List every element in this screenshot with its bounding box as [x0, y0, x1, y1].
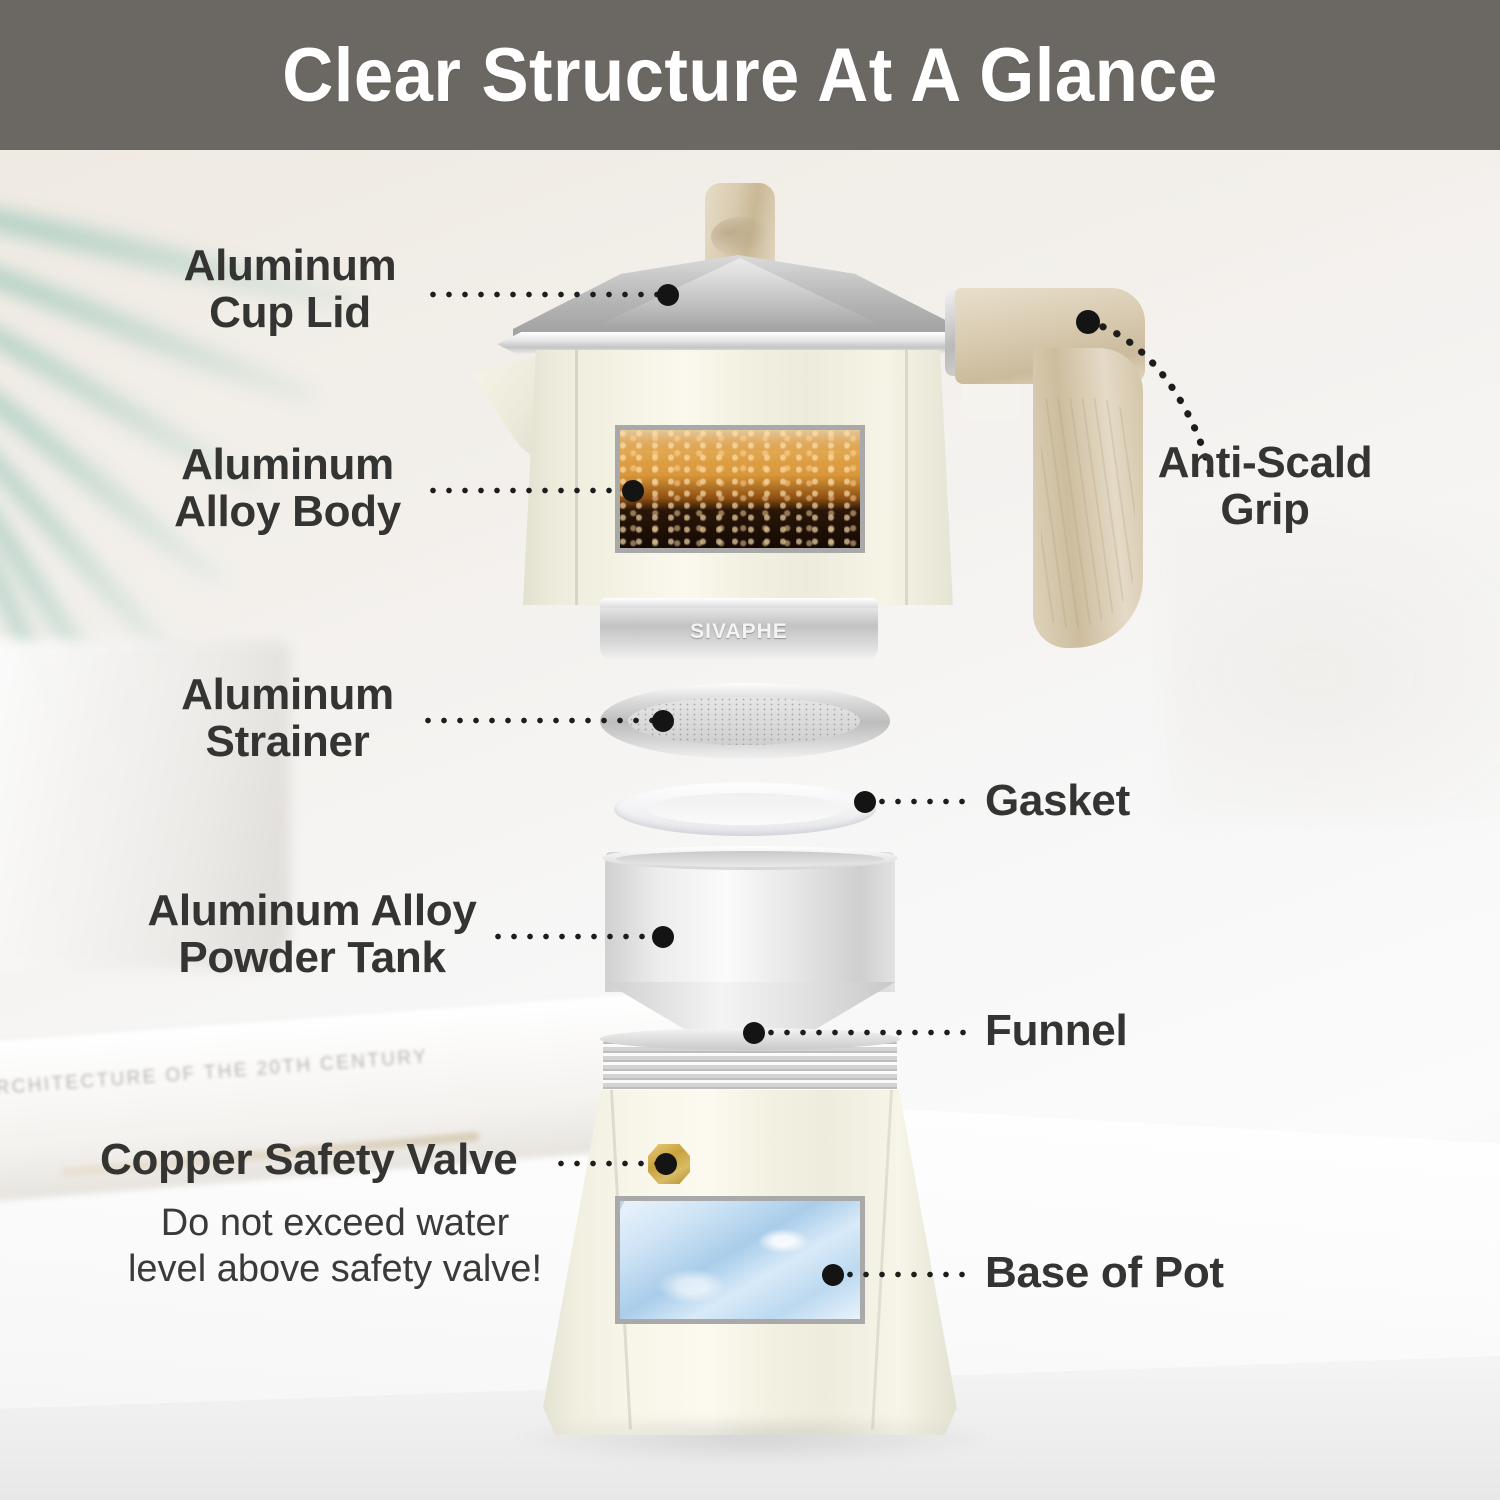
leader-endpoint-dot	[655, 1153, 677, 1175]
water-inset-image	[615, 1196, 865, 1324]
leader-endpoint-dot	[854, 791, 876, 813]
leader-dots	[826, 1271, 966, 1278]
leader-line-base-of-pot	[826, 1267, 966, 1281]
page-title: Clear Structure At A Glance	[282, 32, 1218, 119]
body-facet-edge-left	[575, 350, 578, 605]
label-aluminum-alloy-powder-tank: Aluminum Alloy Powder Tank	[132, 888, 492, 981]
leader-endpoint-dot	[622, 480, 644, 502]
leader-line-powder-tank	[490, 929, 670, 943]
leader-endpoint-dot	[743, 1022, 765, 1044]
label-copper-safety-valve: Copper Safety Valve	[100, 1137, 570, 1184]
leader-line-cup-lid	[425, 287, 675, 301]
leader-dots	[490, 933, 670, 940]
header-banner: Clear Structure At A Glance	[0, 0, 1500, 150]
leader-endpoint-dot	[1076, 310, 1100, 334]
coffee-crema-inset-image	[615, 425, 865, 553]
label-funnel: Funnel	[985, 1008, 1245, 1055]
safety-valve-warning-note: Do not exceed water level above safety v…	[95, 1200, 575, 1293]
base-drop-shadow	[520, 1420, 990, 1464]
leader-endpoint-dot	[652, 926, 674, 948]
leader-line-alloy-body	[425, 483, 640, 497]
leader-dots	[425, 291, 675, 298]
leader-line-funnel	[747, 1025, 969, 1039]
leader-endpoint-dot	[652, 710, 674, 732]
palm-leaf-decoration	[0, 150, 460, 710]
label-aluminum-strainer: Aluminum Strainer	[150, 672, 425, 765]
leader-line-strainer	[420, 713, 670, 727]
body-facet-edge-right	[905, 350, 908, 605]
leader-dots	[420, 717, 670, 724]
label-aluminum-cup-lid: Aluminum Cup Lid	[155, 243, 425, 336]
infographic-canvas: ARCHITECTURE OF THE 20TH CENTURY Clear S…	[0, 0, 1500, 1500]
label-aluminum-alloy-body: Aluminum Alloy Body	[150, 442, 425, 535]
aluminum-alloy-powder-tank	[605, 852, 895, 992]
label-base-of-pot: Base of Pot	[985, 1250, 1315, 1297]
leader-dots	[747, 1029, 969, 1036]
leader-dots	[425, 487, 640, 494]
powder-tank-inner-rim	[616, 851, 884, 867]
body-silver-band: SIVAPHE	[600, 598, 878, 660]
brand-logo: SIVAPHE	[600, 620, 878, 644]
background-blur-right	[1170, 520, 1500, 820]
label-gasket: Gasket	[985, 778, 1245, 825]
label-anti-scald-grip: Anti-Scald Grip	[1120, 440, 1410, 533]
gasket-inner-opening	[648, 793, 842, 825]
leader-line-gasket	[858, 794, 973, 808]
leader-endpoint-dot	[657, 284, 679, 306]
leader-line-safety-valve	[553, 1156, 673, 1170]
leader-endpoint-dot	[822, 1264, 844, 1286]
